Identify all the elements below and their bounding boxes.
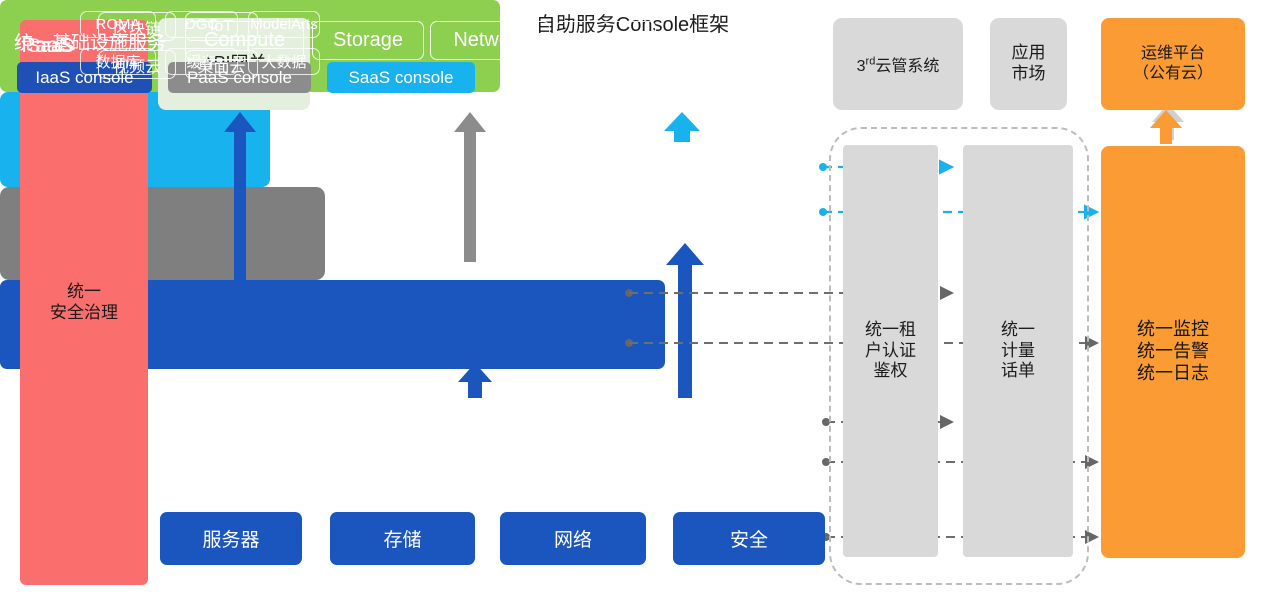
unified-infrastructure-label: 统一基础设施服务: [14, 28, 166, 55]
unified-security-panel[interactable]: 统一 安全治理: [20, 20, 148, 585]
infra-chip-storage[interactable]: Storage: [312, 21, 424, 60]
ops-platform-panel-label: 统一监控 统一告警 统一日志: [1137, 319, 1209, 385]
app-market-label: 应用 市场: [1012, 43, 1046, 84]
hardware-box-security[interactable]: 安全: [673, 512, 825, 565]
unified-billing-column[interactable]: 统一 计量 话单: [963, 145, 1073, 557]
architecture-diagram: 统一 安全治理 API网关 自助服务Console框架 IaaS console…: [0, 0, 1265, 605]
unified-tenant-auth-label: 统一租 户认证 鉴权: [865, 320, 916, 382]
arrow-paas-to-console: [454, 112, 486, 262]
third-party-label: 3rd云管系统: [857, 52, 940, 76]
arrow-saas-to-console: [664, 112, 700, 142]
unified-tenant-auth-column[interactable]: 统一租 户认证 鉴权: [843, 145, 938, 557]
app-market-box[interactable]: 应用 市场: [990, 18, 1067, 110]
unified-billing-label: 统一 计量 话单: [1001, 320, 1035, 382]
infra-chip-network[interactable]: Network: [430, 21, 550, 60]
unified-security-label: 统一 安全治理: [50, 282, 118, 323]
hardware-box-storage[interactable]: 存储: [330, 512, 475, 565]
ops-platform-head-label: 运维平台 （公有云）: [1133, 44, 1213, 83]
third-party-label-pre: 3: [857, 58, 866, 75]
ops-platform-head-box[interactable]: 运维平台 （公有云）: [1101, 18, 1245, 110]
infra-chip-cce[interactable]: CCE: [556, 21, 656, 60]
saas-console-chip[interactable]: SaaS console: [327, 62, 475, 93]
hardware-box-server[interactable]: 服务器: [160, 512, 302, 565]
third-party-cloud-mgmt-box[interactable]: 3rd云管系统: [833, 18, 963, 110]
arrow-infra-to-saas: [666, 243, 704, 398]
hardware-box-network[interactable]: 网络: [500, 512, 646, 565]
infra-chip-compute[interactable]: Compute: [185, 21, 304, 60]
ops-platform-panel[interactable]: 统一监控 统一告警 统一日志: [1101, 146, 1245, 558]
third-party-label-sup: rd: [866, 56, 876, 68]
third-party-label-post: 云管系统: [875, 58, 939, 75]
arrow-into-ops-head: [1150, 110, 1182, 144]
